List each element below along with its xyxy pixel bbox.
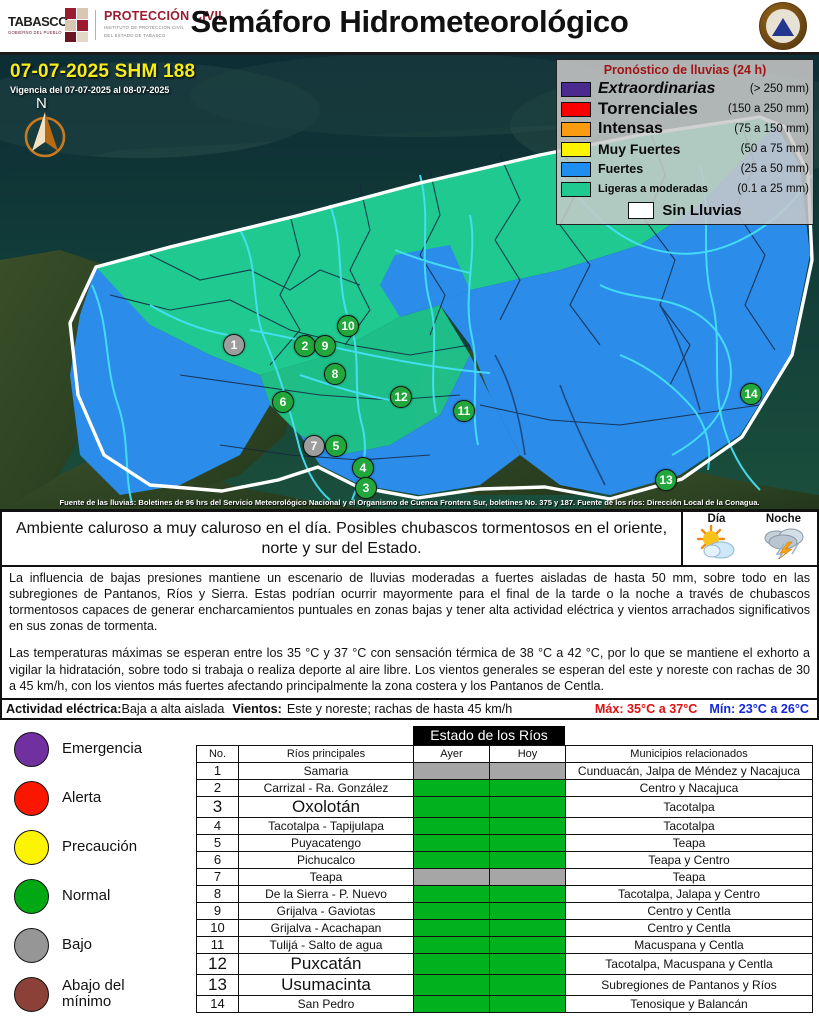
superheader-spacer-rio [238,726,413,745]
cell-status-ayer [414,817,490,834]
cell-rio: Carrizal - Ra. González [239,779,414,796]
rainfall-legend-label: Ligeras a moderadas [598,183,737,195]
bottom-section: EmergenciaAlertaPrecauciónNormalBajoAbaj… [0,720,819,1024]
river-station-marker-12[interactable]: 12 [390,386,412,408]
rainfall-swatch [561,182,591,197]
cell-status-hoy [490,817,566,834]
cell-no: 11 [197,936,239,953]
superheader-spacer-mun [565,726,813,745]
rainfall-legend-row: Intensas(75 a 150 mm) [561,119,809,139]
electric-activity-value: Baja a alta aislada [122,702,225,716]
cell-no: 12 [197,953,239,974]
column-header-ayer: Ayer [414,745,490,762]
cell-no: 2 [197,779,239,796]
cell-municipios: Teapa [566,868,813,885]
cell-no: 5 [197,834,239,851]
river-status-table: No. Ríos principales Ayer Hoy Municipios… [196,745,813,1013]
status-legend-label: Bajo [62,937,92,954]
cell-municipios: Subregiones de Pantanos y Ríos [566,974,813,995]
cell-status-ayer [414,885,490,902]
rainfall-swatch [561,122,591,137]
cell-rio: San Pedro [239,995,414,1012]
cell-status-hoy [490,936,566,953]
cell-status-hoy [490,974,566,995]
status-legend-label: Precaución [62,839,137,856]
table-row: 8De la Sierra - P. NuevoTacotalpa, Jalap… [197,885,813,902]
cell-municipios: Tacotalpa [566,817,813,834]
rainfall-legend-row: Torrenciales(150 a 250 mm) [561,99,809,119]
rainfall-legend-no-rain-row: Sin Lluvias [561,202,809,219]
river-station-marker-2[interactable]: 2 [294,335,316,357]
night-label: Noche [766,513,801,525]
cell-status-hoy [490,885,566,902]
river-table-body: 1SamariaCunduacán, Jalpa de Méndez y Nac… [197,762,813,1012]
cell-no: 13 [197,974,239,995]
rainfall-swatch [561,162,591,177]
status-legend-row: Normal [14,879,196,914]
cell-rio: Tulijá - Salto de agua [239,936,414,953]
river-station-marker-8[interactable]: 8 [324,363,346,385]
forecast-paragraph-1: La influencia de bajas presiones mantien… [9,570,810,634]
cell-municipios: Macuspana y Centla [566,936,813,953]
status-legend-dot [14,879,49,914]
status-legend-row: Alerta [14,781,196,816]
cell-status-hoy [490,995,566,1012]
river-table-superheader: Estado de los Ríos [196,726,813,745]
proteccion-civil-emblem-icon [759,2,807,50]
rainfall-legend-rows: Extraordinarias(> 250 mm)Torrenciales(15… [561,79,809,199]
status-legend-label: Emergencia [62,741,142,758]
cell-rio: Samaria [239,762,414,779]
cell-municipios: Tacotalpa [566,796,813,817]
cell-rio: Grijalva - Acachapan [239,919,414,936]
bulletin-date: 07-07-2025 SHM 188 [10,61,195,83]
sun-behind-cloud-icon [691,525,743,559]
compass-north-label: N [36,95,47,112]
cell-status-ayer [414,936,490,953]
cell-rio: Puxcatán [239,953,414,974]
river-station-marker-5[interactable]: 5 [325,435,347,457]
cell-status-ayer [414,919,490,936]
river-station-marker-7[interactable]: 7 [303,435,325,457]
cell-municipios: Tacotalpa, Jalapa y Centro [566,885,813,902]
cell-no: 10 [197,919,239,936]
cell-municipios: Teapa y Centro [566,851,813,868]
river-station-marker-10[interactable]: 10 [337,315,359,337]
wind-label: Vientos: [232,702,281,716]
cell-no: 7 [197,868,239,885]
river-station-marker-11[interactable]: 11 [453,400,475,422]
column-header-hoy: Hoy [490,745,566,762]
status-legend-row: Abajo del mínimo [14,977,196,1012]
bulletin-date-block: 07-07-2025 SHM 188 Vigencia del 07-07-20… [10,61,195,95]
cell-rio: De la Sierra - P. Nuevo [239,885,414,902]
cell-status-ayer [414,851,490,868]
status-legend-row: Precaución [14,830,196,865]
forecast-summary-box: Ambiente caluroso a muy caluroso en el d… [0,509,819,567]
column-header-municipios: Municipios relacionados [566,745,813,762]
page-header: TABASCO GOBIERNO DEL PUEBLO PROTECCIÓN C… [0,0,819,52]
table-row: 7TeapaTeapa [197,868,813,885]
cell-no: 9 [197,902,239,919]
electric-activity-label: Actividad eléctrica: [6,702,122,716]
cell-status-hoy [490,796,566,817]
cell-status-ayer [414,868,490,885]
river-station-marker-9[interactable]: 9 [314,335,336,357]
cell-status-hoy [490,902,566,919]
day-night-icons-box: Día [681,512,817,565]
map-source-note: Fuente de las lluvias: Boletines de 96 h… [0,498,819,507]
cell-status-ayer [414,796,490,817]
forecast-detail-box: La influencia de bajas presiones mantien… [0,567,819,700]
river-station-marker-3[interactable]: 3 [355,477,377,499]
status-legend-label: Normal [62,888,110,905]
rainfall-legend-row: Extraordinarias(> 250 mm) [561,79,809,99]
cell-status-ayer [414,974,490,995]
rainfall-legend-range: (50 a 75 mm) [741,143,809,155]
max-temperature: Máx: 35°C a 37°C [595,702,697,716]
day-cell: Día [683,512,750,565]
thunderstorm-cloud-icon [758,525,810,559]
cell-status-hoy [490,779,566,796]
rainfall-legend-label: Intensas [598,120,734,138]
cell-status-ayer [414,762,490,779]
cell-status-ayer [414,902,490,919]
table-row: 14San PedroTenosique y Balancán [197,995,813,1012]
rainfall-swatch [561,142,591,157]
cell-rio: Tacotalpa - Tapijulapa [239,817,414,834]
cell-municipios: Centro y Nacajuca [566,779,813,796]
no-rain-label: Sin Lluvias [662,202,741,219]
rainfall-legend-range: (75 a 150 mm) [734,123,809,135]
status-legend-label: Alerta [62,790,101,807]
status-legend-dot [14,977,49,1012]
table-row: 12PuxcatánTacotalpa, Macuspana y Centla [197,953,813,974]
river-station-marker-4[interactable]: 4 [352,457,374,479]
table-row: 5PuyacatengoTeapa [197,834,813,851]
status-legend-label: Abajo del mínimo [62,978,125,1011]
status-legend-dot [14,781,49,816]
cell-municipios: Teapa [566,834,813,851]
column-header-no: No. [197,745,239,762]
cell-status-hoy [490,919,566,936]
cell-no: 3 [197,796,239,817]
wind-value: Este y noreste; rachas de hasta 45 km/h [287,702,512,716]
river-station-marker-13[interactable]: 13 [655,469,677,491]
cell-municipios: Centro y Centla [566,919,813,936]
rainfall-legend-range: (150 a 250 mm) [728,103,809,115]
min-temperature: Mín: 23°C a 26°C [709,702,809,716]
cell-no: 14 [197,995,239,1012]
rainfall-legend-row: Muy Fuertes(50 a 75 mm) [561,139,809,159]
table-row: 13UsumacintaSubregiones de Pantanos y Rí… [197,974,813,995]
estado-de-los-rios-header: Estado de los Ríos [413,726,565,745]
cell-rio: Grijalva - Gaviotas [239,902,414,919]
rainfall-legend-label: Fuertes [598,162,741,176]
cell-no: 1 [197,762,239,779]
river-station-marker-6[interactable]: 6 [272,391,294,413]
rainfall-legend-title: Pronóstico de lluvias (24 h) [561,63,809,77]
superheader-spacer-no [196,726,238,745]
no-rain-swatch [628,202,654,219]
bulletin-validity: Vigencia del 07-07-2025 al 08-07-2025 [10,85,195,95]
rainfall-legend-row: Ligeras a moderadas(0.1 a 25 mm) [561,179,809,199]
rainfall-legend-range: (25 a 50 mm) [741,163,809,175]
rainfall-legend-label: Extraordinarias [598,80,750,98]
table-row: 10Grijalva - AcachapanCentro y Centla [197,919,813,936]
rainfall-forecast-map: 07-07-2025 SHM 188 Vigencia del 07-07-20… [0,52,819,509]
cell-status-hoy [490,834,566,851]
table-row: 6PichucalcoTeapa y Centro [197,851,813,868]
rainfall-legend-label: Torrenciales [598,99,728,119]
rainfall-legend-range: (0.1 a 25 mm) [737,183,809,195]
cell-status-ayer [414,953,490,974]
rainfall-legend: Pronóstico de lluvias (24 h) Extraordina… [556,59,814,225]
cell-status-hoy [490,868,566,885]
river-station-marker-1[interactable]: 1 [223,334,245,356]
cell-municipios: Centro y Centla [566,902,813,919]
rainfall-swatch [561,102,591,117]
cell-status-ayer [414,834,490,851]
forecast-summary-text: Ambiente caluroso a muy caluroso en el d… [2,512,681,565]
cell-no: 4 [197,817,239,834]
cell-municipios: Tacotalpa, Macuspana y Centla [566,953,813,974]
rainfall-legend-row: Fuertes(25 a 50 mm) [561,159,809,179]
cell-no: 8 [197,885,239,902]
cell-rio: Oxolotán [239,796,414,817]
table-row: 1SamariaCunduacán, Jalpa de Méndez y Nac… [197,762,813,779]
table-row: 4Tacotalpa - TapijulapaTacotalpa [197,817,813,834]
cell-no: 6 [197,851,239,868]
status-legend-dot [14,732,49,767]
river-table-header-row: No. Ríos principales Ayer Hoy Municipios… [197,745,813,762]
cell-municipios: Cunduacán, Jalpa de Méndez y Nacajuca [566,762,813,779]
page-title: Semáforo Hidrometeorológico [0,4,819,40]
status-legend-row: Emergencia [14,732,196,767]
table-row: 11Tulijá - Salto de aguaMacuspana y Cent… [197,936,813,953]
cell-rio: Teapa [239,868,414,885]
forecast-paragraph-2: Las temperaturas máximas se esperan entr… [9,645,810,693]
river-status-legend: EmergenciaAlertaPrecauciónNormalBajoAbaj… [0,726,196,1024]
rainfall-legend-label: Muy Fuertes [598,141,741,157]
night-cell: Noche [750,512,817,565]
cell-status-ayer [414,995,490,1012]
table-row: 2Carrizal - Ra. GonzálezCentro y Nacajuc… [197,779,813,796]
rainfall-swatch [561,82,591,97]
status-legend-dot [14,830,49,865]
rainfall-legend-range: (> 250 mm) [750,83,809,95]
table-row: 3OxolotánTacotalpa [197,796,813,817]
status-legend-dot [14,928,49,963]
cell-status-hoy [490,953,566,974]
river-table-wrap: Estado de los Ríos No. Ríos principales … [196,726,819,1024]
conditions-strip: Actividad eléctrica: Baja a alta aislada… [0,700,819,720]
cell-rio: Usumacinta [239,974,414,995]
cell-status-hoy [490,762,566,779]
column-header-rio: Ríos principales [239,745,414,762]
status-legend-row: Bajo [14,928,196,963]
table-row: 9Grijalva - GaviotasCentro y Centla [197,902,813,919]
compass-rose-icon: N [18,97,72,159]
river-station-marker-14[interactable]: 14 [740,383,762,405]
cell-rio: Pichucalco [239,851,414,868]
day-label: Día [708,513,726,525]
cell-rio: Puyacatengo [239,834,414,851]
semaforo-hidrometeorologico-page: TABASCO GOBIERNO DEL PUEBLO PROTECCIÓN C… [0,0,819,1024]
cell-municipios: Tenosique y Balancán [566,995,813,1012]
cell-status-ayer [414,779,490,796]
cell-status-hoy [490,851,566,868]
